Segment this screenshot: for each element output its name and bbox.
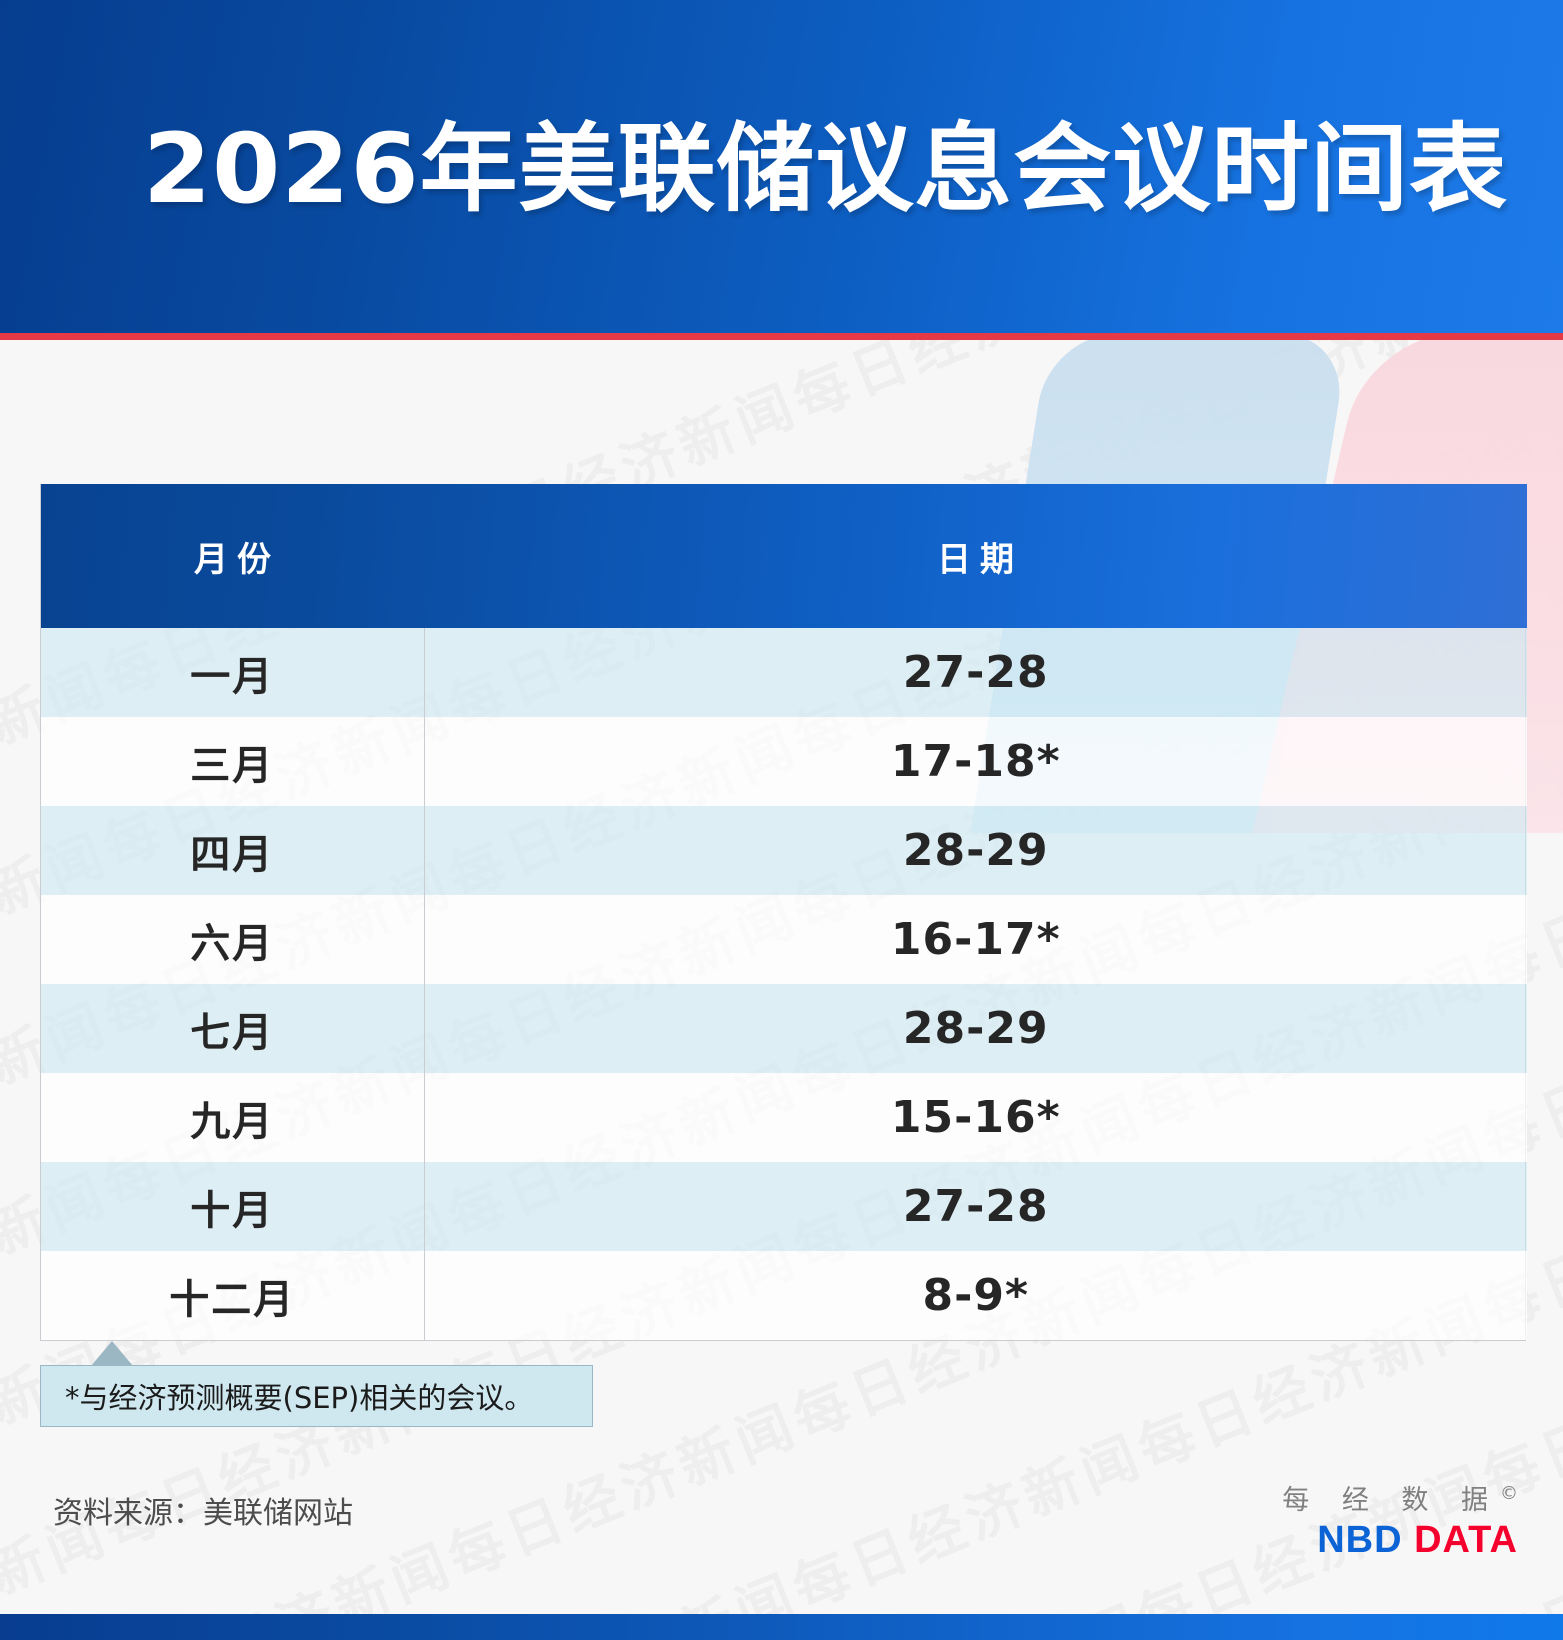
cell-dates: 28-29 (424, 984, 1527, 1073)
cell-month: 六月 (41, 895, 424, 984)
cell-dates: 16-17* (424, 895, 1527, 984)
nbd-logo: 每 经 数 据© NBD DATA (1282, 1478, 1518, 1562)
page-title: 2026年美联储议息会议时间表 (143, 110, 1508, 228)
source-text: 资料来源：美联储网站 (53, 1488, 353, 1532)
cell-month: 一月 (41, 628, 424, 717)
cell-dates: 17-18* (424, 717, 1527, 806)
table-row: 十二月8-9* (41, 1251, 1527, 1340)
table-row: 七月28-29 (41, 984, 1527, 1073)
logo-chinese-text: 每 经 数 据 (1282, 1485, 1500, 1516)
cell-dates: 8-9* (424, 1251, 1527, 1340)
cell-dates: 27-28 (424, 628, 1527, 717)
cell-dates: 27-28 (424, 1162, 1527, 1251)
table-head: 月份 日期 (41, 484, 1527, 628)
schedule-table: 月份 日期 一月27-28三月17-18*四月28-29六月16-17*七月28… (41, 484, 1527, 1340)
cell-month: 七月 (41, 984, 424, 1073)
schedule-table-container: 月份 日期 一月27-28三月17-18*四月28-29六月16-17*七月28… (40, 484, 1526, 1341)
cell-month: 十二月 (41, 1251, 424, 1340)
table-row: 十月27-28 (41, 1162, 1527, 1251)
footer-bar (0, 1614, 1563, 1640)
table-row: 一月27-28 (41, 628, 1527, 717)
logo-english-name: NBD DATA (1282, 1519, 1518, 1562)
header-banner: 2026年美联储议息会议时间表 (0, 0, 1563, 333)
footnote-text: *与经济预测概要(SEP)相关的会议。 (41, 1375, 533, 1417)
table-row: 六月16-17* (41, 895, 1527, 984)
cell-dates: 15-16* (424, 1073, 1527, 1162)
table-body: 一月27-28三月17-18*四月28-29六月16-17*七月28-29九月1… (41, 628, 1527, 1340)
callout-pointer-icon (92, 1342, 132, 1366)
logo-nbd-text: NBD (1317, 1519, 1402, 1561)
header-accent-rule (0, 333, 1563, 340)
column-header-dates: 日期 (424, 484, 1527, 628)
copyright-icon: © (1500, 1483, 1518, 1504)
column-header-month: 月份 (41, 484, 424, 628)
cell-month: 九月 (41, 1073, 424, 1162)
table-header-row: 月份 日期 (41, 484, 1527, 628)
cell-dates: 28-29 (424, 806, 1527, 895)
table-row: 九月15-16* (41, 1073, 1527, 1162)
cell-month: 四月 (41, 806, 424, 895)
footnote-callout: *与经济预测概要(SEP)相关的会议。 (40, 1365, 593, 1427)
cell-month: 三月 (41, 717, 424, 806)
cell-month: 十月 (41, 1162, 424, 1251)
logo-data-text: DATA (1414, 1519, 1518, 1561)
table-row: 四月28-29 (41, 806, 1527, 895)
logo-chinese-name: 每 经 数 据© (1282, 1478, 1518, 1517)
table-row: 三月17-18* (41, 717, 1527, 806)
